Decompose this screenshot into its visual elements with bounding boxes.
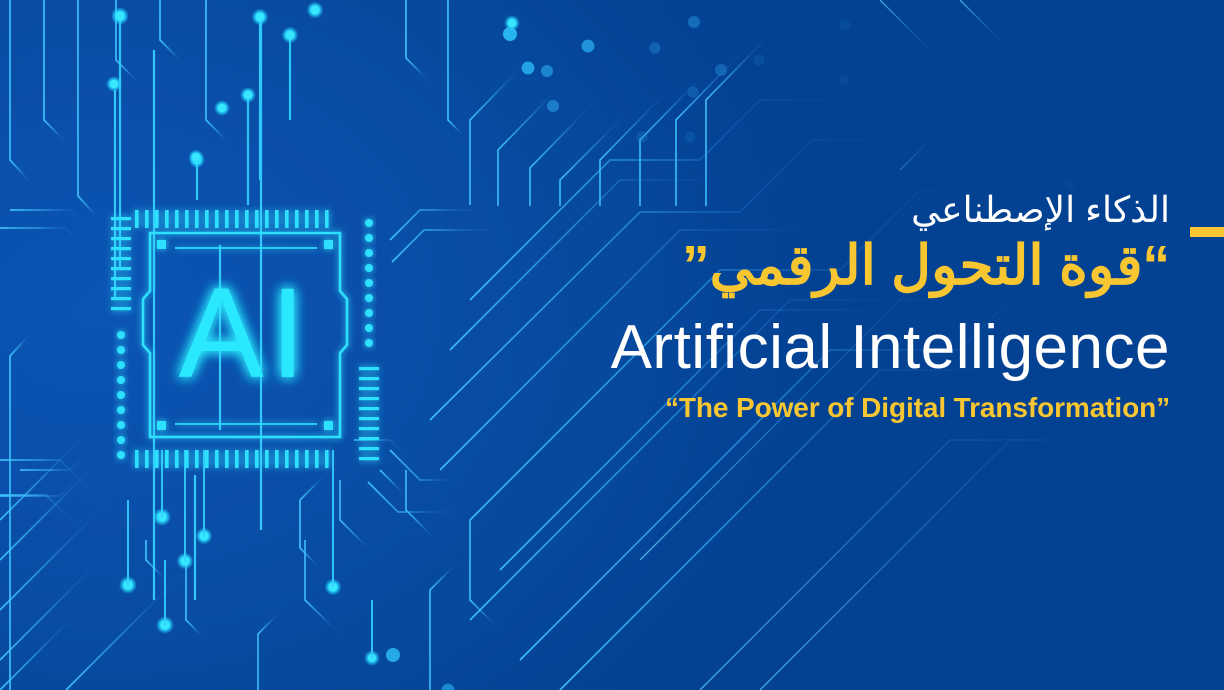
chip-pins-right-dots [365, 219, 373, 347]
chip-pins-right-dashes [359, 367, 379, 460]
accent-dash [1190, 227, 1224, 237]
chip-pins-left-dots [117, 331, 125, 459]
chip-ai-text: AI [179, 262, 312, 405]
chip-pins-left-dashes [111, 217, 131, 310]
english-subtitle: “The Power of Digital Transformation” [570, 393, 1170, 424]
arabic-eyebrow: الذكاء الإصطناعي [570, 190, 1170, 230]
ai-banner: AI الذكاء الإصطناعي “قوة التحول الرقمي” … [0, 0, 1224, 690]
english-title: Artificial Intelligence [570, 315, 1170, 380]
ai-processor-chip: AI [95, 205, 395, 495]
arabic-title: “قوة التحول الرقمي” [570, 232, 1170, 299]
chip-pins-bottom [135, 450, 329, 468]
chip-pins-top [135, 210, 329, 228]
headline-block: الذكاء الإصطناعي “قوة التحول الرقمي” Art… [570, 190, 1170, 423]
chip-ai-label: AI [179, 262, 312, 405]
